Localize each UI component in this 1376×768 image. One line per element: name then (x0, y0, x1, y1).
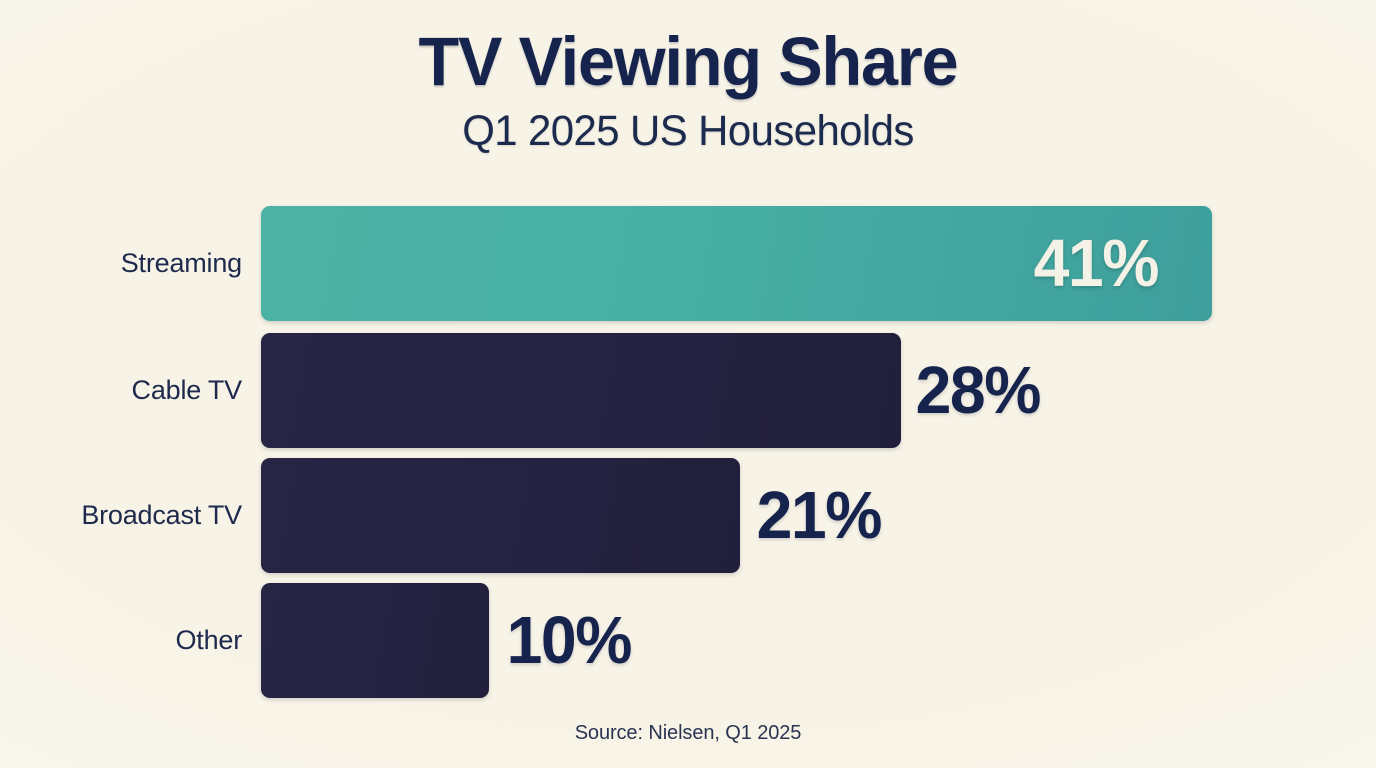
source-note: Source: Nielsen, Q1 2025 (0, 722, 1376, 745)
category-label-broadcast-tv: Broadcast TV (0, 458, 242, 573)
category-label-cable-tv: Cable TV (0, 333, 242, 448)
value-label-streaming: 41% (1034, 206, 1158, 321)
bar-track-streaming: 41% (261, 206, 1376, 321)
bar-row-broadcast-tv: Broadcast TV 21% (0, 458, 1376, 573)
bar-row-other: Other 10% (0, 583, 1376, 698)
category-label-streaming: Streaming (0, 206, 242, 321)
chart-subtitle: Q1 2025 US Households (17, 96, 1359, 153)
bar-cable-tv[interactable] (261, 333, 901, 448)
bar-row-cable-tv: Cable TV 28% (0, 333, 1376, 448)
chart-header: TV Viewing Share Q1 2025 US Households (0, 0, 1376, 153)
bar-chart-plot-area: Streaming 41% Cable TV 28% Broadcast TV … (0, 206, 1376, 696)
bar-track-other: 10% (261, 583, 1376, 698)
category-label-other: Other (0, 583, 242, 698)
value-label-broadcast-tv: 21% (757, 458, 881, 573)
chart-title: TV Viewing Share (24, 0, 1352, 96)
value-label-cable-tv: 28% (916, 333, 1040, 448)
chart-poster: TV Viewing Share Q1 2025 US Households S… (0, 0, 1376, 768)
bar-broadcast-tv[interactable] (261, 458, 740, 573)
bar-track-cable-tv: 28% (261, 333, 1376, 448)
bar-track-broadcast-tv: 21% (261, 458, 1376, 573)
bar-other[interactable] (261, 583, 489, 698)
value-label-other: 10% (507, 583, 631, 698)
bar-row-streaming: Streaming 41% (0, 206, 1376, 321)
